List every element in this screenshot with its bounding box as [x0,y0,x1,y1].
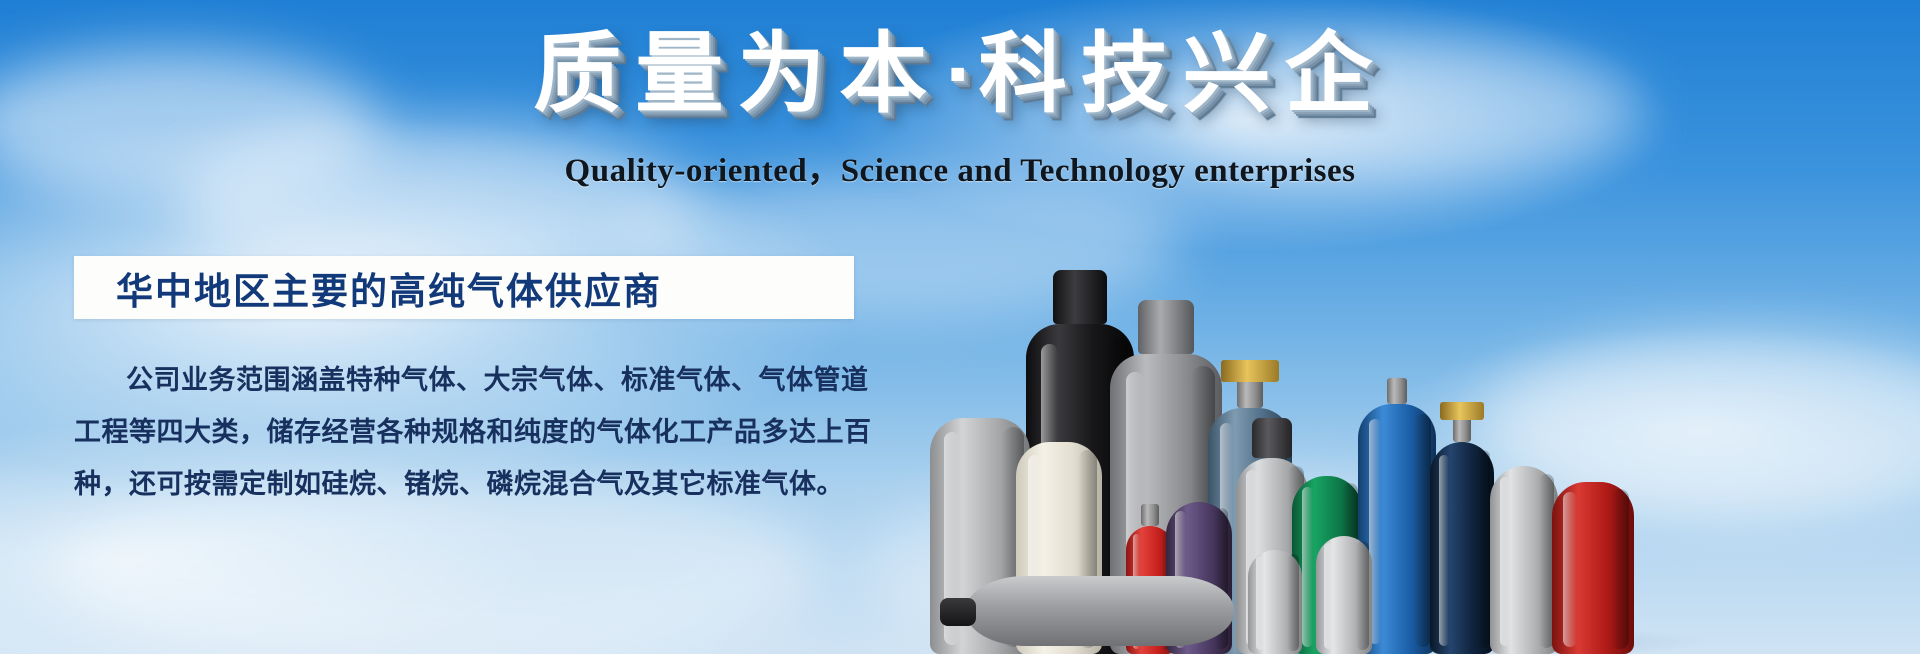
dark-navy-cylinder-valve [1440,402,1484,420]
aluminium-cylinder [1248,550,1302,654]
lying-grey-cylinder [966,576,1234,646]
steel-blue-cylinder-neck [1237,378,1263,408]
body-line-3: 种，还可按需定制如硅烷、锗烷、磷烷混合气及其它标准气体。 [74,459,874,511]
blue-cylinder-neck [1387,378,1407,404]
headline-separator-dot: · [941,24,978,123]
steel-blue-cylinder-valve [1221,360,1279,382]
body-line-2: 工程等四大类，储存经营各种规格和纯度的气体化工产品多达上百 [74,407,874,459]
banner-body-copy: 公司业务范围涵盖特种气体、大宗气体、标准气体、气体管道 工程等四大类，储存经营各… [74,355,874,511]
headline-part-1: 质量为本 [533,24,941,123]
grey-cylinder-cap [1138,300,1194,354]
gas-cylinders-photo [930,150,1920,654]
banner-headline: 质量为本·科技兴企 [0,26,1920,121]
aluminium-cylinder-cap [1252,418,1292,458]
black-cylinder-cap [1053,270,1107,324]
deep-red-cylinder [1552,482,1634,654]
lying-cylinder-valve [940,598,976,626]
headline-part-2: 科技兴企 [979,24,1387,123]
dark-navy-cylinder [1430,442,1494,654]
aluminium-cylinder [1490,466,1558,654]
red-cylinder-neck [1141,504,1159,526]
slogan-text: 华中地区主要的高纯气体供应商 [74,261,662,315]
aluminium-cylinder [1316,536,1372,654]
body-line-1: 公司业务范围涵盖特种气体、大宗气体、标准气体、气体管道 [74,355,874,407]
slogan-box: 华中地区主要的高纯气体供应商 [74,256,854,319]
gas-company-banner: 质量为本·科技兴企 Quality-oriented，Science and T… [0,0,1920,654]
